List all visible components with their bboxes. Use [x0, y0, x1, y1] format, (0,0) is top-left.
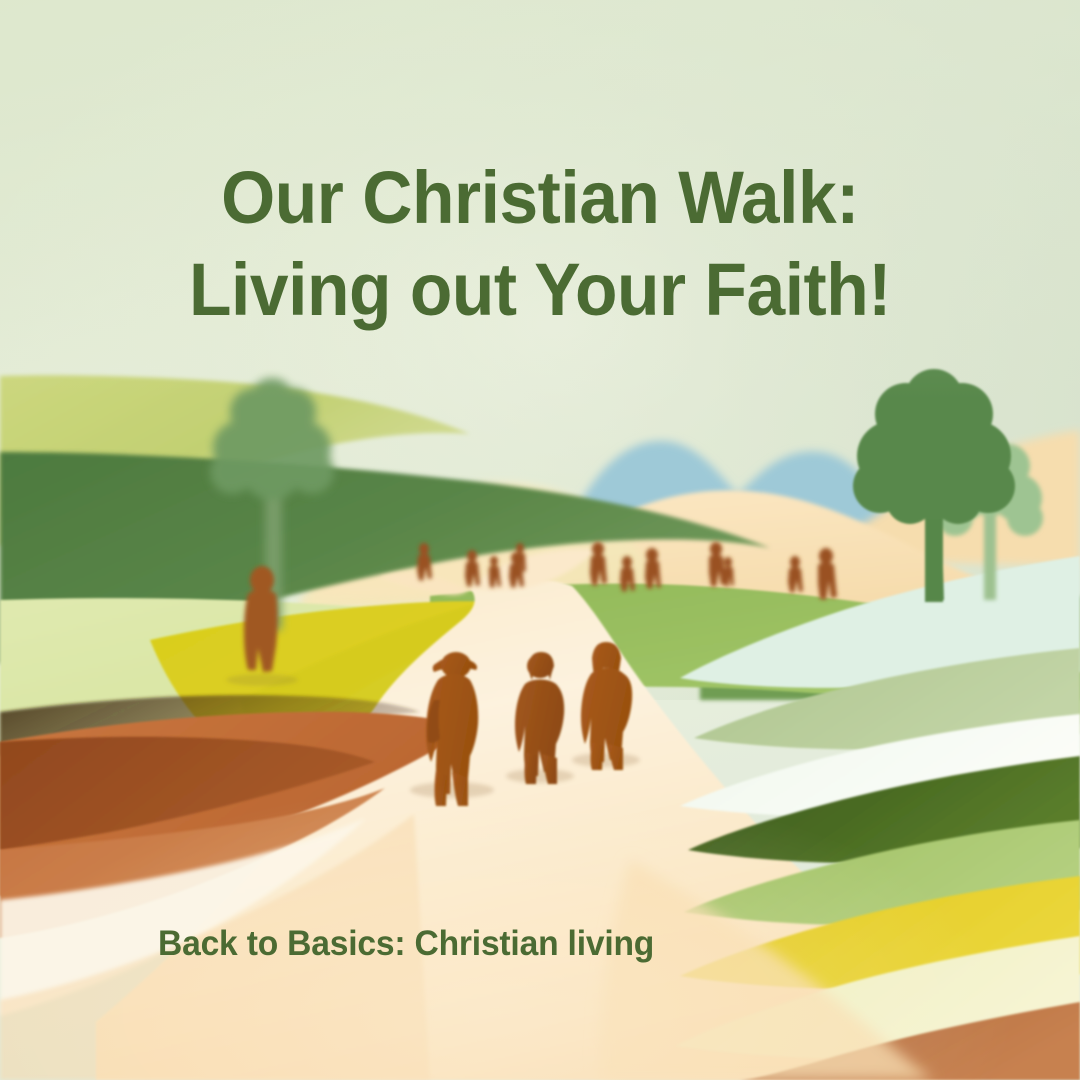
- subtitle-text: Back to Basics: Christian living: [158, 922, 654, 966]
- poster-canvas: Our Christian Walk: Living out Your Fait…: [0, 0, 1080, 1080]
- light-overlay-layer: [0, 0, 1080, 1080]
